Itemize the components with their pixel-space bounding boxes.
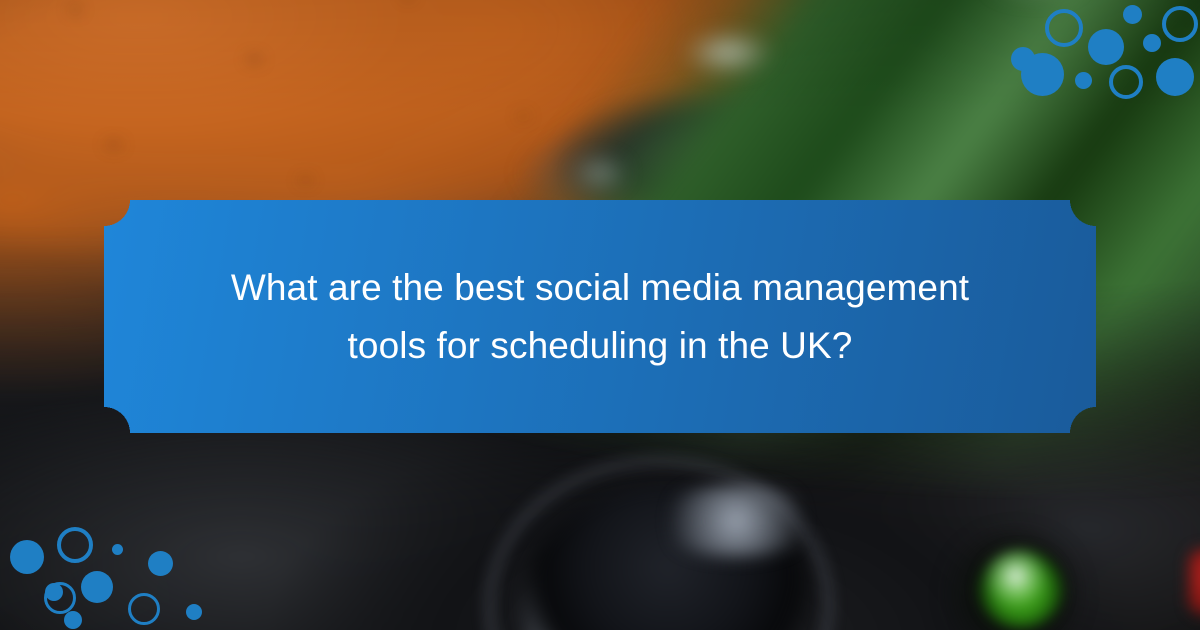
- decorative-dots-bottom-left: [0, 514, 220, 630]
- decorative-dot-filled: [81, 571, 113, 603]
- decorative-dot-filled: [64, 611, 82, 629]
- decorative-dot-ring: [1162, 6, 1198, 42]
- decorative-dot-filled: [1021, 53, 1064, 96]
- page-title: What are the best social media managemen…: [170, 259, 1030, 375]
- decorative-dots-top-right: [990, 0, 1200, 112]
- decorative-dot-ring: [128, 593, 160, 625]
- decorative-dot-filled: [10, 540, 44, 574]
- social-share-card: What are the best social media managemen…: [0, 0, 1200, 630]
- decorative-dot-filled: [1143, 34, 1161, 52]
- decorative-dot-filled: [186, 604, 202, 620]
- decorative-dot-filled: [148, 551, 173, 576]
- decorative-dot-filled: [1075, 72, 1092, 89]
- decorative-dot-filled: [1088, 29, 1124, 65]
- decorative-dot-filled: [1123, 5, 1142, 24]
- question-banner: What are the best social media managemen…: [104, 200, 1096, 433]
- decorative-dot-ring: [1045, 9, 1083, 47]
- decorative-dot-filled: [45, 583, 63, 601]
- decorative-dot-filled: [1156, 58, 1194, 96]
- decorative-dot-ring: [1109, 65, 1143, 99]
- decorative-dot-filled: [112, 544, 123, 555]
- decorative-dot-ring: [57, 527, 93, 563]
